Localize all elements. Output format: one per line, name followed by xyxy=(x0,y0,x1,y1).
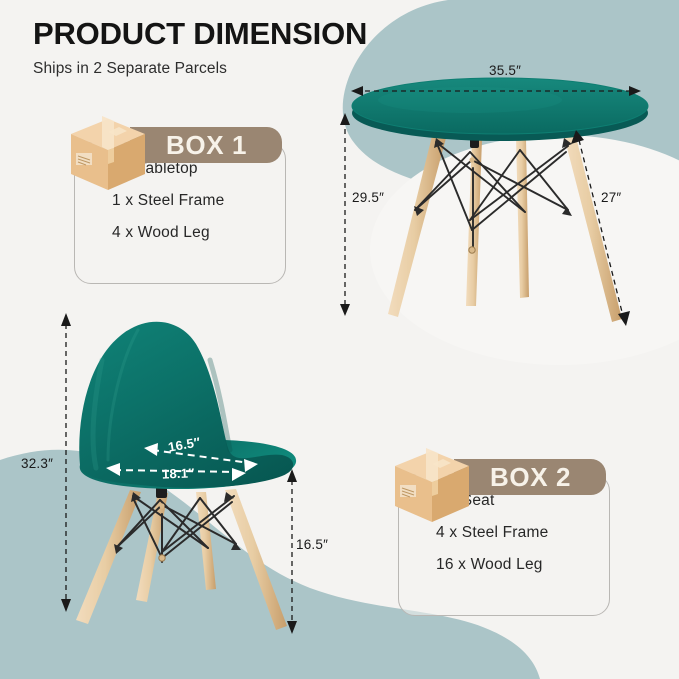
arrow-down xyxy=(61,599,71,612)
box-1-item: 4 x Wood Leg xyxy=(112,224,224,242)
shipping-label-icon xyxy=(400,485,416,497)
chair-total-height-label: 32.3″ xyxy=(21,456,53,471)
arrow-up xyxy=(340,113,350,125)
box-2-card: BOX 2 4 x Seat 4 x Steel Frame 16 x Wood… xyxy=(392,446,617,621)
box-1-banner: BOX 1 xyxy=(130,127,282,163)
chair-backrest xyxy=(79,322,293,488)
page-title: PRODUCT DIMENSION xyxy=(33,18,367,51)
shipping-label-icon xyxy=(76,153,92,165)
table-leg-length-label: 27″ xyxy=(601,190,621,205)
box-1-label: BOX 1 xyxy=(166,130,247,161)
box-2-banner: BOX 2 xyxy=(454,459,606,495)
cardboard-box-icon xyxy=(66,114,150,198)
arrow-up xyxy=(61,313,71,326)
chair-legs xyxy=(76,489,287,630)
header: PRODUCT DIMENSION Ships in 2 Separate Pa… xyxy=(33,18,367,78)
cardboard-box-icon xyxy=(390,446,474,530)
arrow-left xyxy=(351,86,363,96)
box-2-label: BOX 2 xyxy=(490,462,571,493)
table-legs xyxy=(388,136,622,322)
product-dimension-infographic: PRODUCT DIMENSION Ships in 2 Separate Pa… xyxy=(0,0,679,679)
page-subtitle: Ships in 2 Separate Parcels xyxy=(33,60,367,78)
chair-seat-width-label: 18.1″ xyxy=(162,465,195,481)
eames-style-chair-illustration xyxy=(10,300,360,670)
box-1-card: BOX 1 1 x Tabletop 1 x Steel Frame 4 x W… xyxy=(68,114,293,289)
table-width-label: 35.5″ xyxy=(489,63,521,78)
chair-seat-height-label: 16.5″ xyxy=(296,537,328,552)
arrow-down xyxy=(287,621,297,634)
box-2-item: 16 x Wood Leg xyxy=(436,556,548,574)
table-leg-dimension xyxy=(579,140,623,316)
round-dining-table-illustration xyxy=(320,60,679,350)
table-height-label: 29.5″ xyxy=(352,190,384,205)
